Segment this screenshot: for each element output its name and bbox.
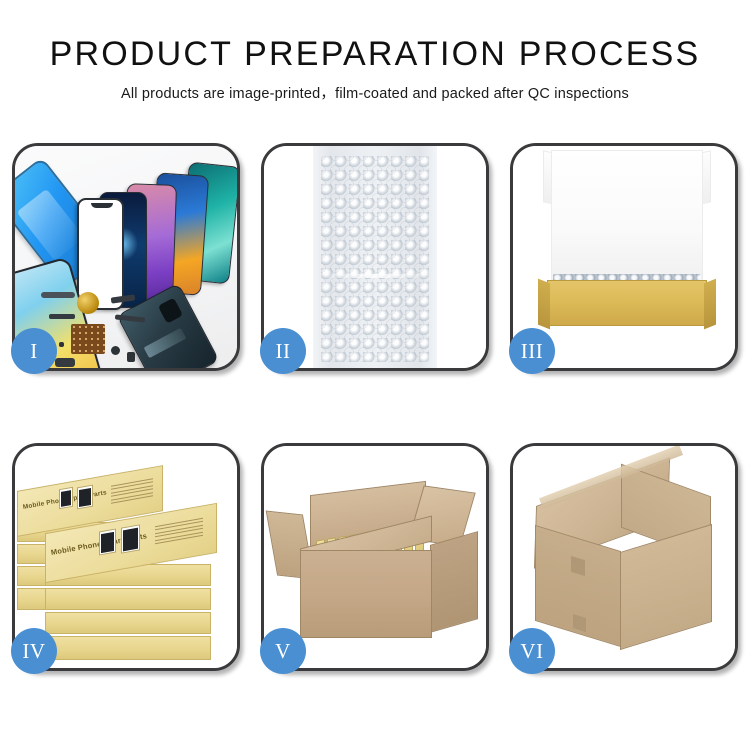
step-panel-1[interactable]: I: [12, 143, 240, 371]
camera-module-part: [55, 358, 75, 367]
earpiece-part: [41, 292, 75, 298]
sealed-carton-front-right: [620, 524, 712, 650]
lid-screen-image-f1: [99, 529, 116, 556]
phone-lineup: [75, 158, 237, 298]
page-subtitle: All products are image-printed，film-coat…: [0, 82, 750, 103]
bubble-wrap-seam: [321, 274, 429, 278]
step-badge-6: VI: [509, 628, 555, 674]
step-panel-4[interactable]: Mobile Phone Spare Parts Mobile Phone Sp…: [12, 443, 240, 671]
page-title: PRODUCT PREPARATION PROCESS: [0, 34, 750, 74]
product-preparation-infographic: PRODUCT PREPARATION PROCESS All products…: [0, 0, 750, 750]
step-badge-1: I: [11, 328, 57, 374]
connector-part: [127, 352, 135, 362]
lid-screen-image-r2: [77, 485, 93, 510]
screw-part-2: [59, 342, 64, 347]
step-panel-6[interactable]: VI: [510, 443, 738, 671]
stacked-box-f-3: [45, 612, 211, 634]
stacked-box-f-2: [45, 588, 211, 610]
stacked-box-f-4: [45, 636, 211, 660]
bubble-texture-overlay: [321, 156, 429, 362]
kraft-box-front: [547, 280, 707, 326]
speaker-part: [77, 292, 99, 314]
step-badge-5: V: [260, 628, 306, 674]
step-panel-2[interactable]: II: [261, 143, 489, 371]
step-badge-4: IV: [11, 628, 57, 674]
carton-front-panel: [300, 550, 432, 638]
flex-cable-part-3: [49, 314, 75, 319]
bubble-wrap-sleeve: [313, 146, 437, 368]
step-panel-3[interactable]: III: [510, 143, 738, 371]
box-lid-back: [551, 150, 703, 282]
lid-screen-image-f2: [121, 524, 140, 553]
button-part: [111, 346, 120, 355]
carton-side-panel: [430, 531, 478, 633]
step-panel-5[interactable]: V: [261, 443, 489, 671]
header: PRODUCT PREPARATION PROCESS All products…: [0, 0, 750, 103]
chip-board-part: [71, 324, 105, 354]
lid-screen-image-r1: [59, 487, 73, 509]
step-badge-2: II: [260, 328, 306, 374]
step-badge-3: III: [509, 328, 555, 374]
process-step-grid: I II III: [12, 143, 738, 688]
